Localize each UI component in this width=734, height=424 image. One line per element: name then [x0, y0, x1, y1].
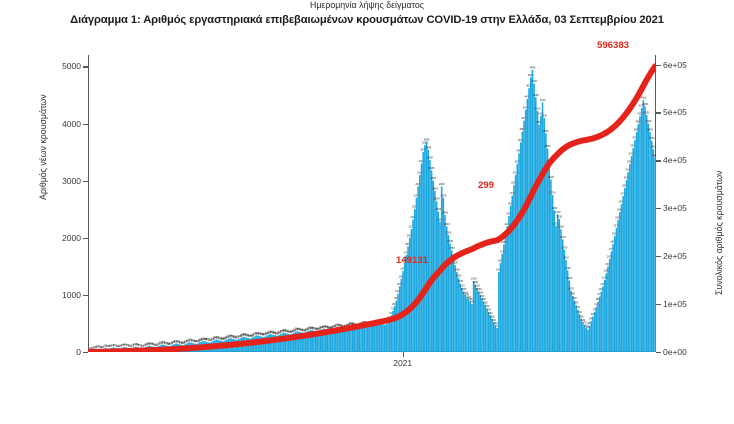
y-tick-label-right: 5e+05 [663, 107, 687, 117]
bar-value-label: 880 [482, 297, 487, 301]
bar-value-label: 4240 [523, 105, 529, 109]
bar-value-label: 1200 [457, 279, 463, 283]
bar-value-label: 3680 [424, 137, 430, 141]
bar-value-label: 1000 [477, 290, 483, 294]
bar [508, 216, 510, 352]
bar-value-label: 1240 [471, 277, 477, 281]
bar-value-label: 1630 [607, 254, 613, 258]
bar [444, 215, 446, 352]
bar-value-label: 4460 [533, 93, 539, 97]
bar-value-label: 1610 [563, 256, 569, 260]
bar [370, 326, 372, 352]
bar-value-label: 3990 [635, 120, 641, 124]
bar-value-label: 1250 [567, 276, 573, 280]
bar-value-label: 3300 [419, 159, 425, 163]
bar-value-label: 940 [480, 294, 485, 298]
bar [643, 100, 645, 352]
bar [343, 329, 345, 352]
bar [612, 244, 614, 352]
bar-value-label: 3100 [513, 170, 519, 174]
bar-value-label: 1790 [562, 245, 568, 249]
bar-value-label: 3700 [649, 136, 655, 140]
bar-value-label: 2920 [511, 181, 517, 185]
bar-value-label: 2170 [614, 224, 620, 228]
bar [500, 263, 502, 352]
bar-value-label: 3850 [634, 128, 640, 132]
bar-value-label: 2700 [441, 193, 447, 197]
bar [438, 212, 440, 353]
bar [602, 286, 604, 352]
bar-value-label: 3710 [632, 136, 638, 140]
bar-value-label: 3550 [651, 145, 656, 149]
bar [459, 283, 461, 352]
x-tick-label: 2021 [393, 358, 412, 368]
bar-value-label: 2900 [415, 182, 421, 186]
bar-value-label: 3540 [425, 145, 431, 149]
bar [535, 97, 537, 352]
bar-value-label: 2640 [434, 197, 440, 201]
bar [614, 236, 616, 352]
bar [604, 280, 606, 352]
bar-value-label: 1380 [604, 269, 610, 273]
bar [552, 195, 554, 352]
y-tick-left [83, 352, 88, 353]
bar [385, 324, 387, 352]
bar [631, 156, 633, 352]
bar [503, 245, 505, 352]
y-tick-right [656, 304, 661, 305]
bar-value-label: 2000 [407, 233, 413, 237]
bar [379, 323, 381, 352]
bar-value-label: 1400 [454, 268, 460, 272]
bar-value-label: 3400 [652, 153, 656, 157]
y-tick-label-left: 0 [76, 347, 81, 357]
bar [469, 302, 471, 352]
bar-value-label: 3480 [516, 149, 522, 153]
bar [397, 294, 399, 352]
bar [458, 278, 460, 352]
bar-value-label: 2320 [410, 215, 416, 219]
bar [365, 325, 367, 352]
bar-value-label: 1900 [447, 239, 453, 243]
bar-value-label: 900 [572, 296, 577, 300]
bar [372, 326, 374, 353]
annotation-cumulative-mid-2: 299 [478, 180, 494, 191]
bar [646, 115, 648, 352]
bar [517, 164, 519, 352]
bar-value-label: 1300 [456, 273, 462, 277]
bar [639, 116, 641, 352]
bar-value-label: 820 [483, 301, 488, 305]
annotation-cumulative-mid-1: 149131 [396, 255, 428, 266]
bar [537, 111, 539, 352]
bar [518, 153, 520, 352]
x-tick [403, 352, 404, 357]
bar [431, 170, 433, 352]
bar [481, 298, 483, 352]
y-tick-label-right: 2e+05 [663, 251, 687, 261]
bar-value-label: 3100 [417, 170, 423, 174]
bar [414, 209, 416, 352]
bar [555, 226, 557, 352]
bar [387, 323, 389, 352]
bar-value-label: 4050 [521, 116, 527, 120]
bar [382, 324, 384, 352]
bar [375, 324, 377, 352]
bar [532, 70, 534, 352]
bar [565, 260, 567, 352]
bar [476, 288, 478, 352]
bar [553, 210, 555, 352]
bar [473, 281, 475, 352]
bar [345, 328, 347, 352]
annotation-cumulative-final: 596383 [597, 40, 629, 51]
bar [456, 272, 458, 352]
bar [626, 180, 628, 352]
bar [495, 326, 497, 352]
bar [520, 142, 522, 352]
bar [522, 132, 524, 352]
bar [433, 181, 435, 352]
bar [498, 272, 500, 352]
bar-value-label: 980 [571, 292, 576, 296]
bar-value-label: 3430 [629, 152, 635, 156]
bar-value-label: 2740 [509, 191, 515, 195]
bar [377, 323, 379, 352]
bar [596, 307, 598, 352]
bar-value-label: 2330 [556, 214, 562, 218]
bar [359, 327, 361, 352]
bar [632, 148, 634, 352]
bar [634, 140, 636, 352]
bar [587, 330, 589, 352]
bar-value-label: 1180 [473, 280, 479, 284]
bar-value-label: 2870 [622, 184, 628, 188]
bar-value-label: 2480 [551, 206, 557, 210]
bar [478, 291, 480, 352]
bar-value-label: 1890 [610, 240, 616, 244]
y-axis-right-title: Συνολικός αριθμός κρουσμάτων [714, 171, 724, 295]
bar-value-label: 520 [492, 318, 497, 322]
bar-value-label: 1560 [498, 258, 504, 262]
bar [621, 204, 623, 352]
bar [406, 255, 408, 352]
bar [569, 281, 571, 352]
bar [564, 250, 566, 352]
bar-value-label: 820 [574, 301, 579, 305]
bar [513, 185, 515, 352]
bar [506, 226, 508, 352]
bar-value-label: 1120 [474, 284, 480, 288]
bar [636, 132, 638, 352]
bar [592, 317, 594, 352]
bar [471, 304, 473, 352]
bar [511, 196, 513, 353]
bar-value-label: 2030 [612, 232, 618, 236]
bar-value-label: 2900 [439, 182, 445, 186]
bar-value-label: 2560 [508, 201, 514, 205]
bar [607, 266, 609, 352]
y-tick-label-right: 4e+05 [663, 155, 687, 165]
bar-value-label: 2750 [550, 190, 556, 194]
bar-value-label: 4940 [530, 65, 536, 69]
y-tick-label-right: 1e+05 [663, 299, 687, 309]
bar [627, 172, 629, 352]
y-axis-left-title: Αριθμός νέων κρουσμάτων [38, 94, 48, 200]
bar [525, 110, 527, 352]
bar-value-label: 2150 [409, 225, 415, 229]
y-tick-right [656, 352, 661, 353]
bar [453, 258, 455, 352]
y-tick-label-right: 3e+05 [663, 203, 687, 213]
bar [644, 106, 646, 352]
bar-value-label: 1700 [404, 250, 410, 254]
bar-value-label: 3560 [545, 144, 551, 148]
bar [480, 295, 482, 352]
bar [609, 259, 611, 352]
bar-value-label: 2820 [432, 186, 438, 190]
bar [617, 220, 619, 352]
bar [542, 102, 544, 352]
bar [557, 214, 559, 352]
bar [380, 324, 382, 352]
bar [543, 118, 545, 352]
bar [384, 325, 386, 352]
bar [547, 149, 549, 352]
bar [624, 188, 626, 352]
bar [461, 288, 463, 352]
bar [396, 301, 398, 352]
bar-value-label: 3850 [647, 128, 653, 132]
bar [538, 125, 540, 352]
bar-value-label: 2050 [446, 230, 452, 234]
bar-value-label: 1720 [499, 249, 505, 253]
bar [412, 219, 414, 352]
bar [638, 124, 640, 352]
bar-value-label: 4620 [526, 84, 532, 88]
bar [374, 325, 376, 352]
bar [416, 198, 418, 352]
y-tick-right [656, 160, 661, 161]
bar [417, 186, 419, 352]
bar-value-label: 3180 [429, 166, 435, 170]
bar-value-label: 2410 [555, 210, 561, 214]
bar-value-label: 3360 [427, 156, 433, 160]
bar [550, 180, 552, 352]
bar [283, 333, 285, 352]
bar [426, 142, 428, 352]
bar-value-label: 2400 [442, 210, 448, 214]
y-tick-right [656, 112, 661, 113]
cumulative-cases-line [89, 66, 655, 352]
bar-value-label: 2150 [558, 225, 564, 229]
bar [486, 309, 488, 352]
bar-value-label: 3670 [518, 138, 524, 142]
bar-value-label: 1150 [600, 282, 606, 286]
y-tick-label-left: 2000 [62, 233, 81, 243]
bar [394, 306, 396, 352]
plot-graphics: 1220283545526048405570625866748072645866… [88, 55, 656, 352]
y-tick-label-left: 5000 [62, 61, 81, 71]
bar [654, 158, 656, 352]
bar [589, 326, 591, 352]
bar [446, 226, 448, 352]
bar [496, 328, 498, 352]
bar [485, 305, 487, 352]
bar [530, 77, 532, 352]
bar-value-label: 3000 [430, 176, 436, 180]
bar [443, 198, 445, 352]
bar-value-label: 1420 [400, 266, 406, 270]
bar-value-label: 3290 [627, 160, 633, 164]
bar-value-label: 4370 [540, 98, 546, 102]
bar [590, 321, 592, 352]
bar [483, 302, 485, 352]
bar-value-label: 2590 [619, 200, 625, 204]
bar [611, 251, 613, 352]
bar [527, 99, 529, 352]
bar-value-label: 1150 [397, 282, 403, 286]
bar [439, 222, 441, 352]
bar [468, 299, 470, 352]
bar [523, 121, 525, 352]
bar-value-label: 700 [487, 308, 492, 312]
bar-value-label: 1060 [476, 287, 482, 291]
bar [651, 141, 653, 352]
bar [454, 265, 456, 352]
bar [389, 320, 391, 352]
bar-value-label: 1970 [560, 235, 566, 239]
bar-value-label: 2210 [553, 221, 559, 225]
bar [424, 145, 426, 352]
bar-value-label: 740 [576, 305, 581, 309]
bar [599, 297, 601, 352]
bar [606, 273, 608, 352]
bar-value-label: 660 [577, 310, 582, 314]
bar-value-label: 2730 [620, 192, 626, 196]
bar [422, 152, 424, 352]
bar-value-label: 4000 [646, 119, 652, 123]
bar-value-label: 2460 [435, 207, 441, 211]
bar [463, 291, 465, 352]
y-tick-label-left: 3000 [62, 176, 81, 186]
bar [429, 160, 431, 352]
bar [616, 228, 618, 352]
y-tick-right [656, 208, 661, 209]
bar-value-label: 3150 [625, 168, 631, 172]
bar [540, 116, 542, 352]
bar [567, 270, 569, 352]
bar [505, 235, 507, 352]
bar-value-label: 4100 [541, 113, 547, 117]
bar [355, 327, 357, 352]
bar-value-label: 3570 [630, 144, 636, 148]
bar [475, 285, 477, 352]
bar-value-label: 3830 [543, 129, 549, 133]
bar [411, 229, 413, 352]
bar-value-label: 2200 [444, 222, 450, 226]
bar-value-label: 4700 [531, 79, 537, 83]
bar-value-label: 3620 [422, 141, 428, 145]
bar-value-label: 4430 [525, 94, 531, 98]
bar [629, 164, 631, 352]
bar [648, 124, 650, 352]
bar [601, 291, 603, 352]
bar [360, 326, 362, 352]
bar [362, 325, 364, 352]
bar [404, 263, 406, 352]
x-axis-title: Ημερομηνία λήψης δείγματος [0, 0, 734, 10]
bar [594, 312, 596, 352]
covid-cases-chart: Διάγραμμα 1: Αριθμός εργαστηριακά επιβεβ… [0, 0, 734, 424]
bar-value-label: 1780 [449, 246, 455, 250]
bar-value-label: 2500 [412, 205, 418, 209]
bar-value-label: 2700 [414, 193, 420, 197]
bar [597, 302, 599, 352]
bar-value-label: 1070 [568, 286, 574, 290]
bar-value-label: 4410 [641, 96, 647, 100]
bar-value-label: 1850 [405, 242, 411, 246]
bar [585, 328, 587, 352]
bar-value-label: 1500 [605, 262, 611, 266]
bar [354, 327, 356, 352]
bar [451, 250, 453, 352]
bar-value-label: 1400 [496, 268, 502, 272]
bar-value-label: 3290 [514, 160, 520, 164]
bar-value-label: 3020 [548, 175, 554, 179]
bar-value-label: 1060 [598, 287, 604, 291]
bar-value-label: 580 [490, 314, 495, 318]
bar-value-label: 1760 [609, 247, 615, 251]
bar-value-label: 4810 [528, 73, 534, 77]
bar-value-label: 580 [579, 314, 584, 318]
bar [528, 88, 530, 352]
bar-value-label: 1260 [602, 276, 608, 280]
bar-value-label: 3010 [624, 176, 630, 180]
bar [357, 328, 359, 352]
bar-value-label: 3860 [520, 127, 526, 131]
bar-value-label: 4220 [535, 106, 541, 110]
bar [653, 149, 655, 352]
y-tick-right [656, 256, 661, 257]
bar [466, 297, 468, 352]
bar [515, 175, 517, 352]
bar [427, 150, 429, 352]
bar [464, 295, 466, 352]
bar-value-label: 640 [488, 311, 493, 315]
bar-value-label: 2450 [617, 208, 623, 212]
bar-value-label: 1020 [395, 289, 401, 293]
y-tick-right [656, 65, 661, 66]
bar-value-label: 760 [485, 304, 490, 308]
bar-value-label: 1280 [399, 274, 405, 278]
bar-value-label: 4300 [642, 102, 648, 106]
bar [501, 254, 503, 352]
bar [367, 325, 369, 352]
bar [369, 326, 371, 352]
bar-value-label: 2200 [504, 222, 510, 226]
bar-value-label: 4130 [637, 112, 643, 116]
bar [448, 235, 450, 352]
bar [533, 84, 535, 352]
y-tick-label-left: 4000 [62, 119, 81, 129]
bar-value-label: 2310 [615, 216, 621, 220]
bar [641, 108, 643, 352]
bar-value-label: 1430 [565, 266, 571, 270]
page-title: Διάγραμμα 1: Αριθμός εργαστηριακά επιβεβ… [0, 14, 734, 26]
bar-value-label: 3980 [536, 120, 542, 124]
plot-area: 010002000300040005000 0e+001e+052e+053e+… [88, 55, 656, 352]
